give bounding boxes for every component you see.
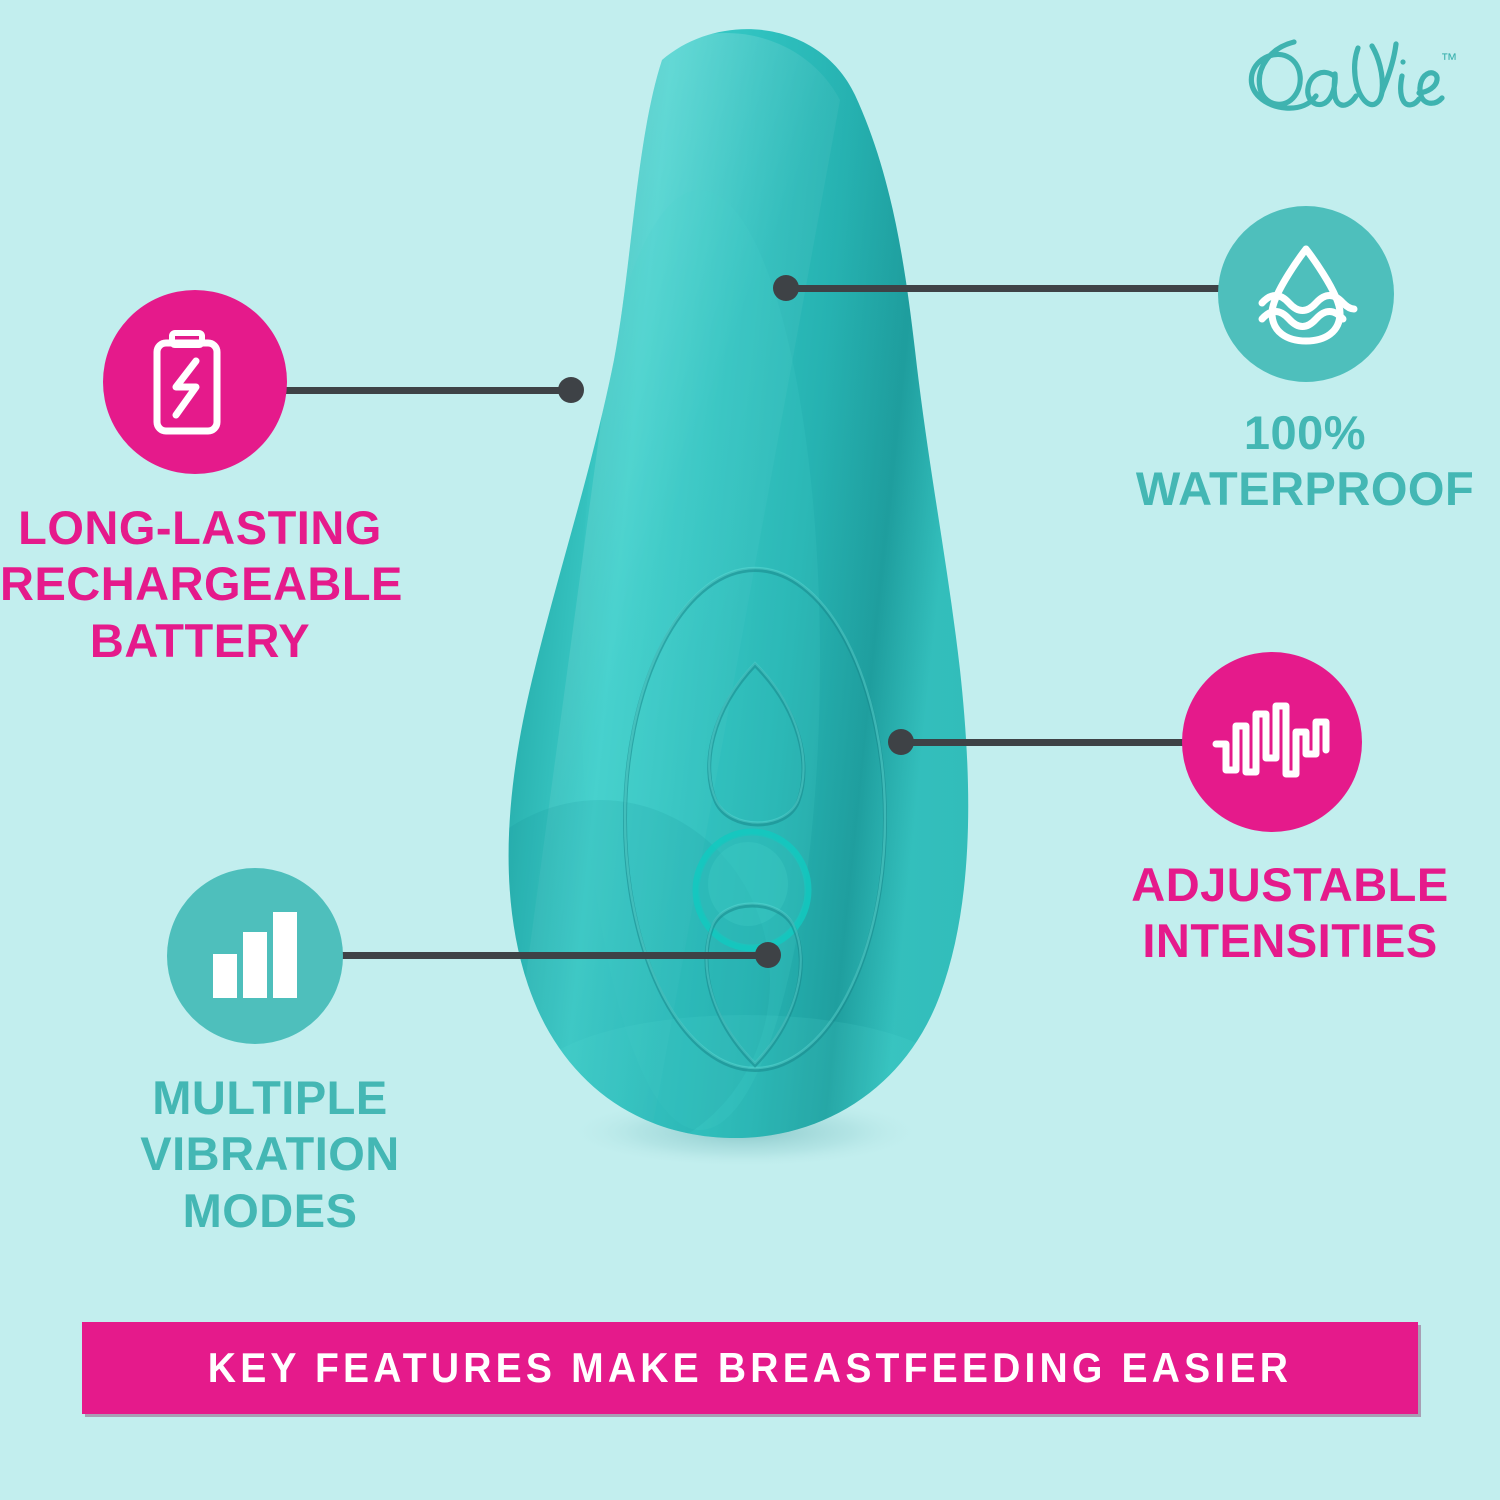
vibration-modes-caption-line-1: MULTIPLE xyxy=(75,1070,465,1126)
vibration-modes-badge[interactable] xyxy=(167,868,343,1044)
vibration-modes-caption-line-2: VIBRATION xyxy=(75,1126,465,1182)
vibration-modes-caption-line-3: MODES xyxy=(75,1183,465,1239)
leader-dot-intensities xyxy=(888,729,914,755)
waterproof-caption: 100% WATERPROOF xyxy=(1110,405,1500,518)
leader-line-vibration-modes xyxy=(340,952,772,959)
intensities-caption-line-1: ADJUSTABLE xyxy=(1090,857,1490,913)
waterproof-badge[interactable] xyxy=(1218,206,1394,382)
key-features-banner: KEY FEATURES MAKE BREASTFEEDING EASIER xyxy=(82,1322,1418,1414)
product-device-image xyxy=(400,20,1100,1320)
battery-caption: LONG-LASTING RECHARGEABLE BATTERY xyxy=(0,500,400,669)
leader-line-waterproof xyxy=(786,285,1220,292)
waveform-icon xyxy=(1212,692,1332,792)
leader-line-battery xyxy=(282,387,572,394)
trademark-symbol: ™ xyxy=(1441,50,1459,70)
vibration-modes-caption: MULTIPLE VIBRATION MODES xyxy=(75,1070,465,1239)
bar-chart-icon xyxy=(207,908,303,1004)
battery-caption-line-1: LONG-LASTING xyxy=(0,500,400,556)
leader-dot-waterproof xyxy=(773,275,799,301)
battery-caption-line-2: RECHARGEABLE xyxy=(0,556,400,612)
banner-text: KEY FEATURES MAKE BREASTFEEDING EASIER xyxy=(208,1344,1292,1392)
leader-dot-battery xyxy=(558,377,584,403)
intensities-caption-line-2: INTENSITIES xyxy=(1090,913,1490,969)
battery-charging-icon xyxy=(150,327,240,437)
battery-caption-line-3: BATTERY xyxy=(0,613,400,669)
infographic-canvas: ™ xyxy=(0,0,1500,1500)
waterproof-caption-line-1: 100% xyxy=(1110,405,1500,461)
water-droplet-icon xyxy=(1252,241,1360,347)
intensities-badge[interactable] xyxy=(1182,652,1362,832)
intensities-caption: ADJUSTABLE INTENSITIES xyxy=(1090,857,1490,970)
battery-badge[interactable] xyxy=(103,290,287,474)
leader-dot-vibration-modes xyxy=(755,942,781,968)
leader-line-intensities xyxy=(900,739,1188,746)
waterproof-caption-line-2: WATERPROOF xyxy=(1110,461,1500,517)
brand-logo: ™ xyxy=(1230,22,1460,132)
